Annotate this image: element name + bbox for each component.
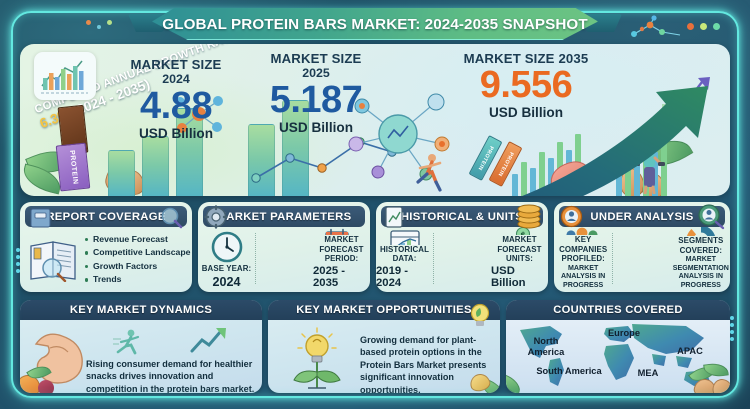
stat-value: 5.187	[242, 82, 390, 119]
base-year-value: 2024	[212, 275, 240, 289]
list-item: Trends	[84, 273, 191, 286]
forecast-period-value: 2025 - 2035	[313, 265, 370, 289]
runner-icon-hero	[412, 152, 446, 192]
historical-data-value: 2019 - 2024	[376, 265, 433, 289]
card-key-market-dynamics[interactable]: KEY MARKET DYNAMICS	[20, 300, 262, 393]
title-ribbon: GLOBAL PROTEIN BARS MARKET: 2024-2035 SN…	[152, 8, 598, 40]
card-market-parameters[interactable]: MARKET PARAMETERS	[198, 202, 370, 292]
insights-row: KEY MARKET DYNAMICS	[20, 300, 730, 393]
user-magnifier-icon	[696, 203, 726, 230]
coverage-bullet-list: Revenue Forecast Competitive Landscape G…	[84, 233, 191, 287]
card-countries-covered[interactable]: COUNTRIES COVERED	[506, 300, 730, 393]
protein-bar-wrapper-left: PROTEIN	[56, 143, 91, 192]
card-report-coverage[interactable]: REPORT COVERAGE	[20, 202, 192, 292]
berry-icon	[38, 380, 54, 393]
stat-label: MARKET SIZE	[102, 58, 250, 72]
base-year-caption: BASE YEAR:	[202, 264, 252, 274]
list-item: Growth Factors	[84, 260, 191, 273]
historical-data-caption: HISTORICAL DATA:	[376, 245, 433, 264]
base-year-block: BASE YEAR: 2024	[198, 227, 255, 292]
decorative-dot-column-left	[16, 248, 20, 273]
forecast-units-value: USD Billion	[491, 265, 548, 289]
forecast-period-caption: MARKET FORECAST PERIOD:	[313, 235, 370, 264]
key-companies-block: KEY COMPANIES PROFILED: MARKET ANALYSIS …	[554, 227, 612, 292]
stat-market-size-2024: MARKET SIZE 2024 4.88 USD Billion	[102, 58, 250, 141]
magnifier-icon	[160, 206, 184, 230]
card-under-analysis[interactable]: UNDER ANALYSIS	[554, 202, 730, 292]
historical-data-block: HISTORICAL DATA: 2019 - 2024	[376, 227, 433, 292]
card-historical-units[interactable]: HISTORICAL & UNITS	[376, 202, 548, 292]
list-item: Revenue Forecast	[84, 233, 191, 246]
chart-bubble-icon	[34, 52, 96, 100]
stat-market-size-2025: MARKET SIZE 2025 5.187 USD Billion	[242, 52, 390, 135]
page-title: GLOBAL PROTEIN BARS MARKET: 2024-2035 SN…	[152, 8, 598, 40]
chart-calendar-icon	[388, 227, 422, 245]
forecast-units-block: $ € $ MARKET FORECAST UNITS: USD Billion	[491, 227, 548, 292]
key-companies-caption: KEY COMPANIES PROFILED:	[554, 235, 612, 264]
stat-label: MARKET SIZE	[242, 52, 390, 66]
dynamics-text: Rising consumer demand for healthier sna…	[86, 358, 256, 393]
coins-icon	[515, 204, 543, 230]
forecast-units-caption: MARKET FORECAST UNITS:	[491, 235, 548, 264]
segments-covered-caption: SEGMENTS COVERED:	[672, 236, 730, 255]
clock-icon	[210, 230, 244, 264]
card-header: COUNTRIES COVERED	[506, 300, 730, 320]
molecule-icon-top-right	[624, 14, 688, 40]
gear-icon	[204, 205, 228, 229]
card-header: KEY MARKET DYNAMICS	[20, 300, 262, 320]
leaf-bulb-icon	[468, 302, 492, 328]
region-apac: APAC	[668, 346, 712, 357]
protein-bar-label: PROTEIN	[68, 149, 79, 184]
decorative-dots-left	[86, 20, 112, 29]
region-mea: MEA	[628, 368, 668, 379]
hero-panel: PROTEIN	[20, 44, 730, 196]
region-europe: Europe	[594, 328, 654, 339]
segments-covered-sub: MARKET SEGMENTATION ANALYSIS IN PROGRESS	[672, 255, 730, 289]
growth-arrow-icon	[188, 326, 228, 356]
book-icon	[28, 207, 54, 229]
stat-value: 4.88	[102, 88, 250, 125]
infographic-poster: GLOBAL PROTEIN BARS MARKET: 2024-2035 SN…	[0, 0, 750, 409]
stat-unit: USD Billion	[102, 126, 250, 141]
region-south-america: South America	[528, 366, 610, 377]
stat-unit: USD Billion	[242, 120, 390, 135]
forecast-period-block: MARKET FORECAST PERIOD: 2025 - 2035	[313, 227, 370, 292]
segments-covered-block: SEGMENTS COVERED: MARKET SEGMENTATION AN…	[672, 227, 730, 292]
card-key-market-opportunities[interactable]: KEY MARKET OPPORTUNITIES	[268, 300, 500, 393]
decorative-dot-column-right	[730, 316, 734, 341]
key-companies-sub: MARKET ANALYSIS IN PROGRESS	[554, 264, 612, 289]
card-header: KEY MARKET OPPORTUNITIES	[268, 300, 500, 320]
user-gear-icon	[559, 204, 584, 229]
document-chart-icon	[382, 205, 406, 229]
calendar-icon	[322, 227, 362, 235]
open-book-icon	[27, 236, 83, 282]
runner-icon	[112, 328, 144, 358]
region-north-america: North America	[518, 336, 574, 357]
parameters-row: REPORT COVERAGE	[20, 202, 730, 292]
decorative-dots-right	[687, 23, 720, 30]
lightbulb-plant-icon	[280, 324, 354, 392]
list-item: Competitive Landscape	[84, 246, 191, 259]
